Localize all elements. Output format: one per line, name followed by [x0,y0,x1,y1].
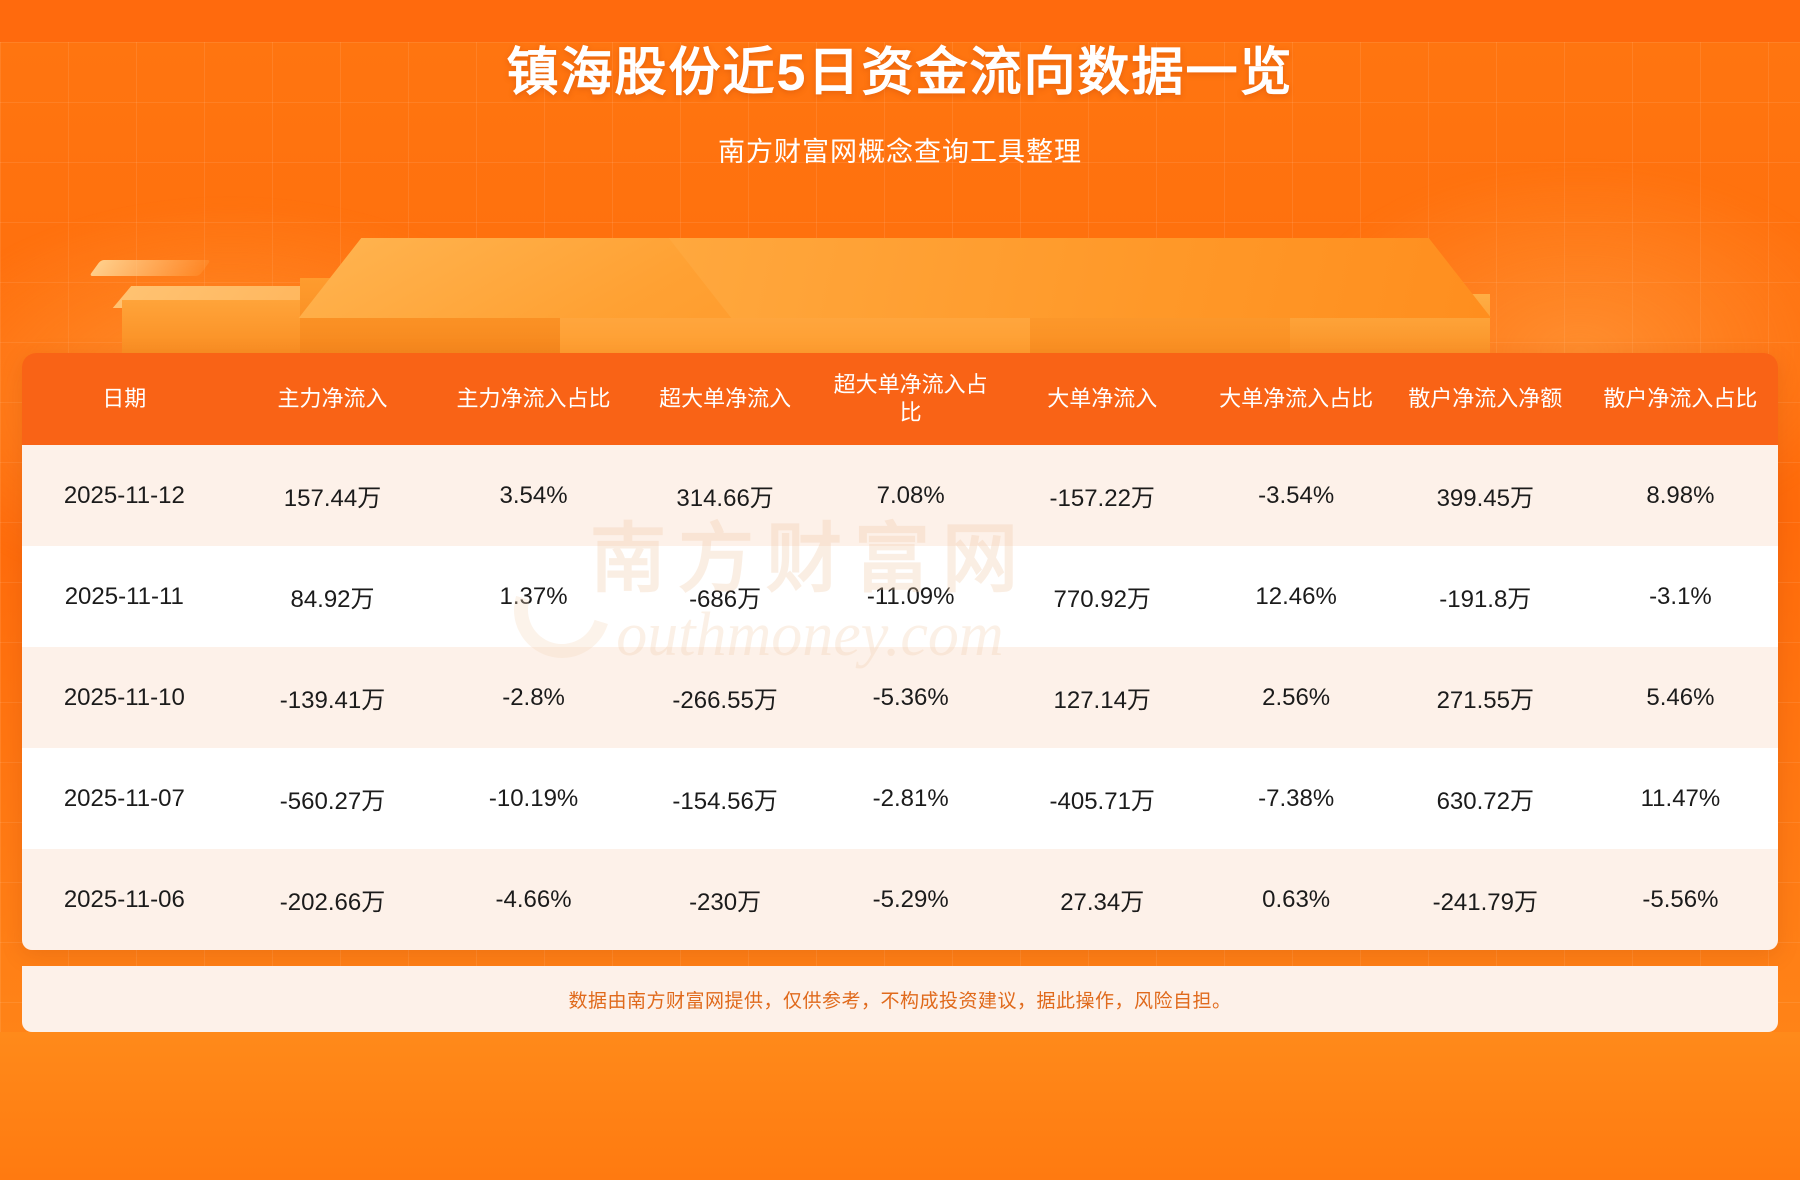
cell-lg-net: -157.22万 [1000,445,1205,546]
cell-lg-pct: 0.63% [1205,849,1388,950]
cell-retail-pct: 5.46% [1583,647,1778,748]
cell-xl-net: 314.66万 [629,445,822,546]
cell-lg-net: 127.14万 [1000,647,1205,748]
cell-lg-pct: 2.56% [1205,647,1388,748]
cell-main-pct: 3.54% [438,445,628,546]
table-row: 2025-11-12 157.44万 3.54% 314.66万 7.08% -… [22,445,1778,546]
column-header-lg-pct: 大单净流入占比 [1205,353,1388,445]
table-header: 日期 主力净流入 主力净流入占比 超大单净流入 超大单净流入占比 大单净流入 大… [22,353,1778,445]
fund-flow-table-card: 日期 主力净流入 主力净流入占比 超大单净流入 超大单净流入占比 大单净流入 大… [22,353,1778,950]
cell-retail-net: 630.72万 [1388,748,1583,849]
cell-retail-pct: -5.56% [1583,849,1778,950]
cell-retail-pct: 8.98% [1583,445,1778,546]
table-row: 2025-11-07 -560.27万 -10.19% -154.56万 -2.… [22,748,1778,849]
cell-date: 2025-11-12 [22,445,227,546]
table-header-row: 日期 主力净流入 主力净流入占比 超大单净流入 超大单净流入占比 大单净流入 大… [22,353,1778,445]
cell-xl-pct: -2.81% [821,748,999,849]
cell-xl-net: -154.56万 [629,748,822,849]
column-header-xl-pct: 超大单净流入占比 [821,353,999,445]
cell-main-net: -202.66万 [227,849,439,950]
cell-xl-pct: -5.29% [821,849,999,950]
podium-streak-left [89,260,211,276]
cell-main-pct: -2.8% [438,647,628,748]
cell-lg-net: -405.71万 [1000,748,1205,849]
table-row: 2025-11-11 84.92万 1.37% -686万 -11.09% 77… [22,546,1778,647]
column-header-lg-net: 大单净流入 [1000,353,1205,445]
column-header-retail-pct: 散户净流入占比 [1583,353,1778,445]
cell-lg-pct: 12.46% [1205,546,1388,647]
cell-date: 2025-11-11 [22,546,227,647]
page-subtitle: 南方财富网概念查询工具整理 [0,130,1800,169]
cell-main-pct: 1.37% [438,546,628,647]
cell-xl-net: -230万 [629,849,822,950]
cell-main-net: 157.44万 [227,445,439,546]
cell-retail-net: 271.55万 [1388,647,1583,748]
cell-date: 2025-11-06 [22,849,227,950]
page-header: 镇海股份近5日资金流向数据一览 南方财富网概念查询工具整理 [0,42,1800,169]
cell-lg-net: 770.92万 [1000,546,1205,647]
column-header-main-net: 主力净流入 [227,353,439,445]
cell-retail-net: -241.79万 [1388,849,1583,950]
cell-xl-net: -266.55万 [629,647,822,748]
cell-main-pct: -4.66% [438,849,628,950]
footer-bar: 数据由南方财富网提供，仅供参考，不构成投资建议，据此操作，风险自担。 [22,966,1778,1032]
cell-lg-net: 27.34万 [1000,849,1205,950]
page-bottom-fill [0,1032,1800,1180]
footer-disclaimer: 数据由南方财富网提供，仅供参考，不构成投资建议，据此操作，风险自担。 [568,986,1231,1013]
column-header-main-pct: 主力净流入占比 [438,353,628,445]
column-header-retail-net: 散户净流入净额 [1388,353,1583,445]
table-body: 2025-11-12 157.44万 3.54% 314.66万 7.08% -… [22,445,1778,950]
page-title: 镇海股份近5日资金流向数据一览 [0,42,1800,104]
table-row: 2025-11-10 -139.41万 -2.8% -266.55万 -5.36… [22,647,1778,748]
column-header-date: 日期 [22,353,227,445]
cell-retail-net: 399.45万 [1388,445,1583,546]
podium-surface-right [669,238,1492,318]
cell-retail-pct: -3.1% [1583,546,1778,647]
column-header-xl-net: 超大单净流入 [629,353,822,445]
cell-date: 2025-11-10 [22,647,227,748]
table-row: 2025-11-06 -202.66万 -4.66% -230万 -5.29% … [22,849,1778,950]
cell-main-pct: -10.19% [438,748,628,849]
cell-main-net: -560.27万 [227,748,439,849]
podium-illustration [0,228,1800,370]
cell-xl-pct: 7.08% [821,445,999,546]
cell-xl-pct: -5.36% [821,647,999,748]
cell-lg-pct: -7.38% [1205,748,1388,849]
cell-main-net: -139.41万 [227,647,439,748]
cell-lg-pct: -3.54% [1205,445,1388,546]
cell-retail-net: -191.8万 [1388,546,1583,647]
cell-xl-net: -686万 [629,546,822,647]
fund-flow-table: 日期 主力净流入 主力净流入占比 超大单净流入 超大单净流入占比 大单净流入 大… [22,353,1778,950]
cell-xl-pct: -11.09% [821,546,999,647]
cell-main-net: 84.92万 [227,546,439,647]
cell-retail-pct: 11.47% [1583,748,1778,849]
cell-date: 2025-11-07 [22,748,227,849]
